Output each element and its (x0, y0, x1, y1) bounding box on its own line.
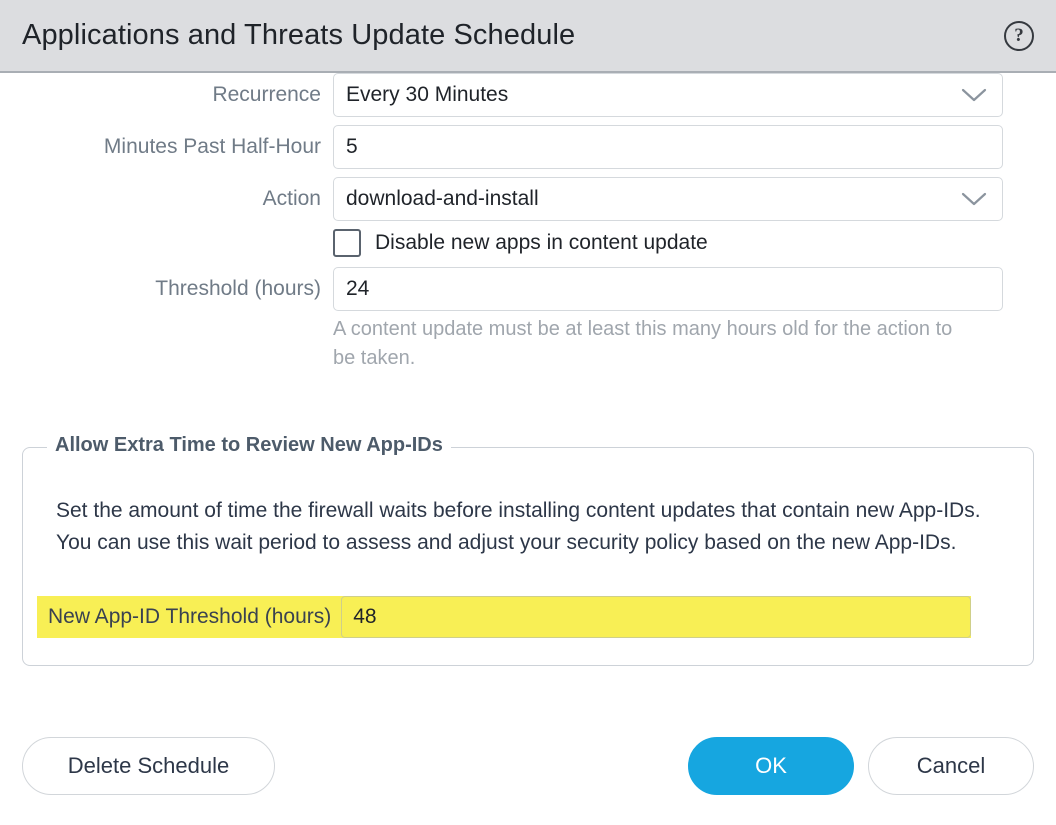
help-circle-icon[interactable]: ? (1004, 21, 1034, 51)
action-label: Action (0, 177, 333, 221)
disable-new-apps-checkbox[interactable] (333, 229, 361, 257)
row-minutes-past-half-hour: Minutes Past Half-Hour (0, 125, 1056, 169)
row-threshold: Threshold (hours) A content update must … (0, 267, 1056, 373)
delete-schedule-button[interactable]: Delete Schedule (22, 737, 275, 795)
fieldset-legend: Allow Extra Time to Review New App-IDs (47, 434, 451, 457)
threshold-label: Threshold (hours) (0, 267, 333, 311)
recurrence-label: Recurrence (0, 73, 333, 117)
page-title: Applications and Threats Update Schedule (22, 19, 575, 52)
threshold-helper-text: A content update must be at least this m… (333, 315, 973, 373)
minutes-past-input[interactable] (333, 125, 1003, 169)
recurrence-field-wrap (333, 73, 1003, 117)
dialog-titlebar: Applications and Threats Update Schedule… (0, 0, 1056, 73)
row-action: Action (0, 177, 1056, 221)
row-disable-new-apps: Disable new apps in content update (0, 229, 1056, 257)
threshold-input[interactable] (333, 267, 1003, 311)
cancel-button[interactable]: Cancel (868, 737, 1034, 795)
new-appid-review-fieldset: Allow Extra Time to Review New App-IDs S… (22, 447, 1034, 666)
minutes-past-label: Minutes Past Half-Hour (0, 125, 333, 169)
minutes-past-field-wrap (333, 125, 1003, 169)
new-appid-threshold-input[interactable] (341, 596, 971, 638)
recurrence-select[interactable] (333, 73, 1003, 117)
action-select[interactable] (333, 177, 1003, 221)
disable-new-apps-label[interactable]: Disable new apps in content update (375, 231, 708, 255)
fieldset-description: Set the amount of time the firewall wait… (56, 495, 1011, 559)
form-area: Recurrence Minutes Past Half-Hour Action… (0, 73, 1056, 381)
dialog-footer: Delete Schedule OK Cancel (0, 730, 1056, 806)
new-appid-threshold-row: New App-ID Threshold (hours) (37, 596, 971, 638)
action-field-wrap (333, 177, 1003, 221)
ok-button[interactable]: OK (688, 737, 854, 795)
threshold-field-wrap: A content update must be at least this m… (333, 267, 1003, 373)
row-recurrence: Recurrence (0, 73, 1056, 117)
new-appid-threshold-label: New App-ID Threshold (hours) (37, 596, 341, 638)
